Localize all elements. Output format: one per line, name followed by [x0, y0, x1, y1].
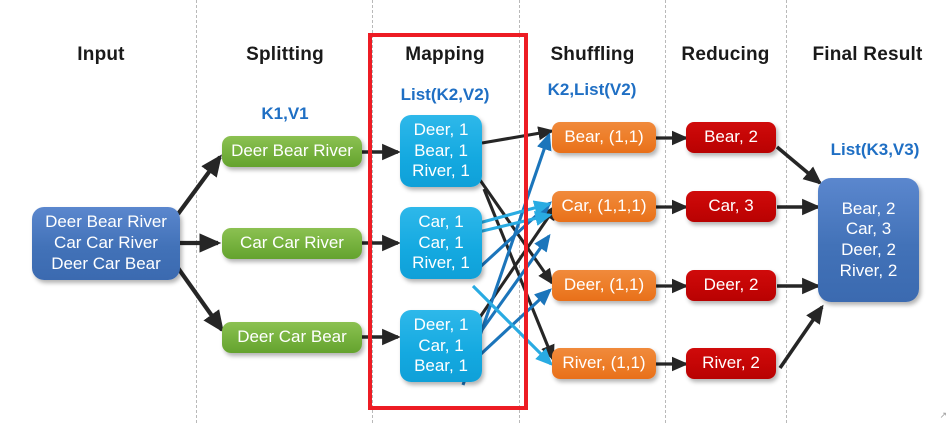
mapping-box-3-line-1: Deer, 1 [414, 315, 469, 336]
mapping-box-2-line-3: River, 1 [412, 253, 470, 274]
reducing-box-2-label: Car, 3 [708, 196, 753, 217]
reducing-box-2[interactable]: Car, 3 [686, 191, 776, 222]
splitting-box-1-label: Deer Bear River [231, 141, 353, 162]
shuffling-box-4-label: River, (1,1) [562, 353, 645, 374]
mapreduce-diagram: Input Splitting Mapping Shuffling Reduci… [0, 0, 950, 423]
mapping-box-3-line-2: Car, 1 [418, 336, 463, 357]
shuffling-box-4[interactable]: River, (1,1) [552, 348, 656, 379]
input-line-1: Deer Bear River [45, 212, 167, 233]
mapping-box-1-line-1: Deer, 1 [414, 120, 469, 141]
input-line-3: Deer Car Bear [51, 254, 161, 275]
mapping-box-1-line-3: River, 1 [412, 161, 470, 182]
corner-mark: ↗ [939, 410, 947, 421]
mapping-box-1-line-2: Bear, 1 [414, 141, 468, 162]
input-box[interactable]: Deer Bear River Car Car River Deer Car B… [32, 207, 180, 280]
splitting-box-3[interactable]: Deer Car Bear [222, 322, 362, 353]
splitting-box-1[interactable]: Deer Bear River [222, 136, 362, 167]
mapping-box-2-line-2: Car, 1 [418, 233, 463, 254]
shuffling-box-2-label: Car, (1,1,1) [561, 196, 646, 217]
reducing-box-4[interactable]: River, 2 [686, 348, 776, 379]
shuffling-box-1[interactable]: Bear, (1,1) [552, 122, 656, 153]
shuffling-box-2[interactable]: Car, (1,1,1) [552, 191, 656, 222]
input-line-2: Car Car River [54, 233, 158, 254]
reducing-box-1[interactable]: Bear, 2 [686, 122, 776, 153]
shuffling-box-3[interactable]: Deer, (1,1) [552, 270, 656, 301]
arrows-reducing-to-final [777, 147, 822, 368]
reducing-box-3[interactable]: Deer, 2 [686, 270, 776, 301]
mapping-box-2-line-1: Car, 1 [418, 212, 463, 233]
splitting-box-2[interactable]: Car Car River [222, 228, 362, 259]
final-result-line-1: Bear, 2 [842, 199, 896, 220]
final-result-line-3: Deer, 2 [841, 240, 896, 261]
arrows-input-to-splitting [178, 157, 222, 330]
reducing-box-1-label: Bear, 2 [704, 127, 758, 148]
mapping-box-2[interactable]: Car, 1 Car, 1 River, 1 [400, 207, 482, 279]
mapping-box-1[interactable]: Deer, 1 Bear, 1 River, 1 [400, 115, 482, 187]
final-result-box[interactable]: Bear, 2 Car, 3 Deer, 2 River, 2 [818, 178, 919, 302]
final-result-line-4: River, 2 [840, 261, 898, 282]
splitting-box-2-label: Car Car River [240, 233, 344, 254]
splitting-box-3-label: Deer Car Bear [237, 327, 347, 348]
shuffling-box-1-label: Bear, (1,1) [564, 127, 643, 148]
reducing-box-3-label: Deer, 2 [704, 275, 759, 296]
arrows-shuffling-to-reducing [655, 138, 686, 364]
shuffling-box-3-label: Deer, (1,1) [564, 275, 644, 296]
reducing-box-4-label: River, 2 [702, 353, 760, 374]
final-result-line-2: Car, 3 [846, 219, 891, 240]
mapping-box-3-line-3: Bear, 1 [414, 356, 468, 377]
mapping-box-3[interactable]: Deer, 1 Car, 1 Bear, 1 [400, 310, 482, 382]
arrows-splitting-to-mapping [362, 152, 398, 337]
